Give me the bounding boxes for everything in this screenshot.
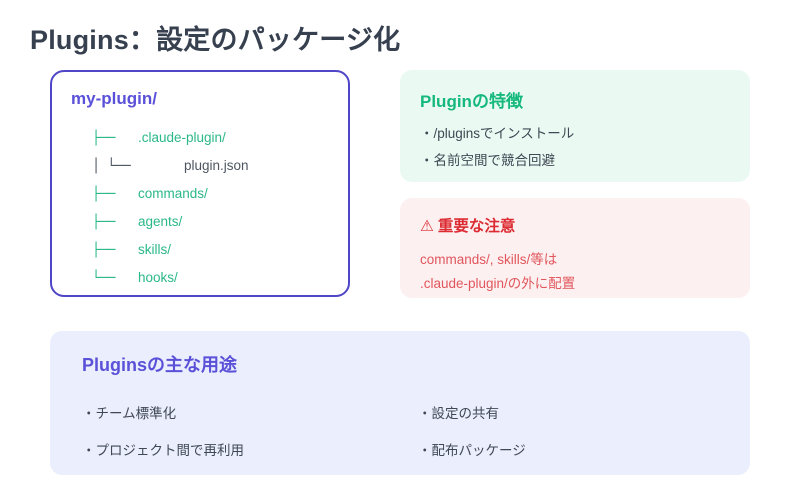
tree-item-label: .claude-plugin/ — [138, 130, 226, 145]
tree-branch-icon: ├── — [92, 180, 138, 208]
tree-list: ├──.claude-plugin/ │ └──plugin.json ├──c… — [92, 124, 340, 292]
feature-item: ・名前空間で競合回避 — [420, 147, 574, 174]
warning-panel-heading: ⚠重要な注意 — [420, 214, 515, 236]
tree-row: ├──.claude-plugin/ — [92, 124, 340, 152]
feature-item: ・/pluginsでインストール — [420, 120, 574, 147]
use-item: ・プロジェクト間で再利用 — [82, 439, 418, 459]
uses-panel: Pluginsの主な用途 ・チーム標準化 ・設定の共有 ・プロジェクト間で再利用… — [50, 331, 750, 475]
warning-panel: ⚠重要な注意 commands/, skills/等は .claude-plug… — [400, 198, 750, 298]
warning-triangle-icon: ⚠ — [420, 217, 434, 235]
tree-row: ├──commands/ — [92, 180, 340, 208]
warning-item: commands/, skills/等は — [420, 248, 575, 272]
tree-item-label: agents/ — [138, 214, 182, 229]
tree-branch-icon: └── — [92, 264, 138, 292]
tree-branch-icon: ├── — [92, 124, 138, 152]
tree-branch-icon: ├── — [92, 208, 138, 236]
tree-item-label: commands/ — [138, 186, 208, 201]
features-panel: Pluginの特徴 ・/pluginsでインストール ・名前空間で競合回避 — [400, 70, 750, 182]
warning-panel-heading-text: 重要な注意 — [438, 218, 516, 235]
uses-grid: ・チーム標準化 ・設定の共有 ・プロジェクト間で再利用 ・配布パッケージ — [82, 393, 722, 467]
tree-row: └──hooks/ — [92, 264, 340, 292]
tree-branch-icon: │ └── — [92, 152, 184, 180]
features-panel-lines: ・/pluginsでインストール ・名前空間で競合回避 — [420, 120, 574, 174]
tree-branch-icon: ├── — [92, 236, 138, 264]
use-item: ・配布パッケージ — [418, 439, 722, 459]
tree-row: ├──agents/ — [92, 208, 340, 236]
tree-item-label: hooks/ — [138, 270, 178, 285]
features-panel-heading: Pluginの特徴 — [420, 87, 523, 112]
tree-root-label: my-plugin/ — [71, 89, 157, 109]
tree-item-label: plugin.json — [184, 158, 249, 173]
tree-item-label: skills/ — [138, 242, 171, 257]
tree-row: │ └──plugin.json — [92, 152, 340, 180]
plugin-tree-card: my-plugin/ ├──.claude-plugin/ │ └──plugi… — [50, 70, 350, 297]
use-item: ・設定の共有 — [418, 402, 722, 422]
warning-panel-lines: commands/, skills/等は .claude-plugin/の外に配… — [420, 248, 575, 296]
warning-item: .claude-plugin/の外に配置 — [420, 272, 575, 296]
use-item: ・チーム標準化 — [82, 402, 418, 422]
tree-row: ├──skills/ — [92, 236, 340, 264]
uses-panel-heading: Pluginsの主な用途 — [82, 351, 237, 377]
page-title: Plugins：設定のパッケージ化 — [30, 18, 400, 57]
slide-root: Plugins：設定のパッケージ化 my-plugin/ ├──.claude-… — [0, 0, 800, 500]
